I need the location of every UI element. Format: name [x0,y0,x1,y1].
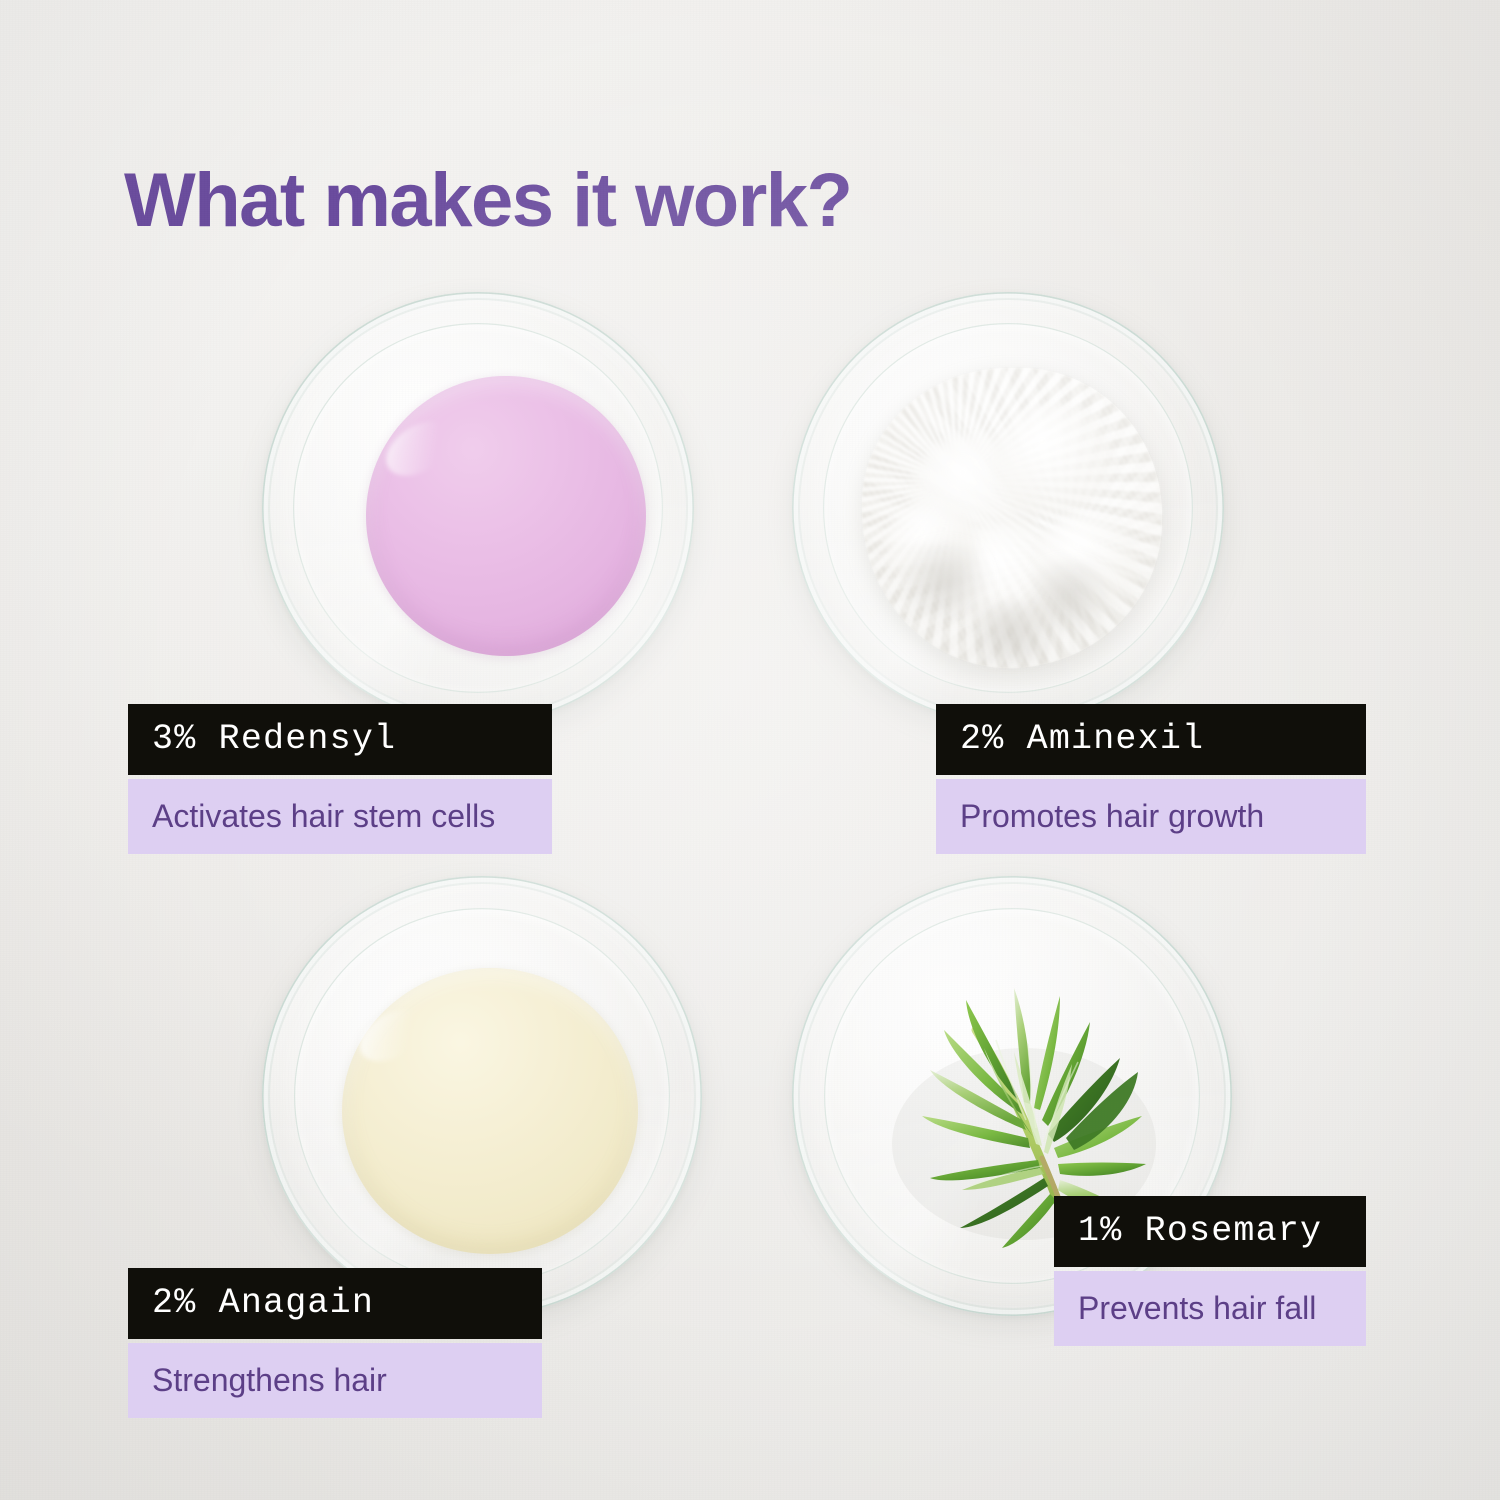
ingredient-label-aminexil: 2% Aminexil Promotes hair growth [936,704,1366,854]
ingredient-tag-aminexil: 2% Aminexil [936,704,1366,775]
ingredient-desc-redensyl: Activates hair stem cells [128,779,552,854]
pink-liquid-sample [366,376,646,656]
ingredient-desc-aminexil: Promotes hair growth [936,779,1366,854]
cream-liquid-sample [342,968,638,1254]
ingredient-tag-rosemary: 1% Rosemary [1054,1196,1366,1267]
ingredient-desc-anagain: Strengthens hair [128,1343,542,1418]
ingredient-infographic: What makes it work? [0,0,1500,1500]
powder-lump [994,404,1114,518]
ingredient-label-redensyl: 3% Redensyl Activates hair stem cells [128,704,552,854]
ingredient-label-anagain: 2% Anagain Strengthens hair [128,1268,542,1418]
ingredient-desc-rosemary: Prevents hair fall [1054,1271,1366,1346]
powder-shadow [952,602,1072,662]
ingredient-tag-redensyl: 3% Redensyl [128,704,552,775]
ingredient-label-rosemary: 1% Rosemary Prevents hair fall [1054,1196,1366,1346]
white-powder-sample [862,368,1162,668]
page-title: What makes it work? [124,163,851,239]
ingredient-tag-anagain: 2% Anagain [128,1268,542,1339]
